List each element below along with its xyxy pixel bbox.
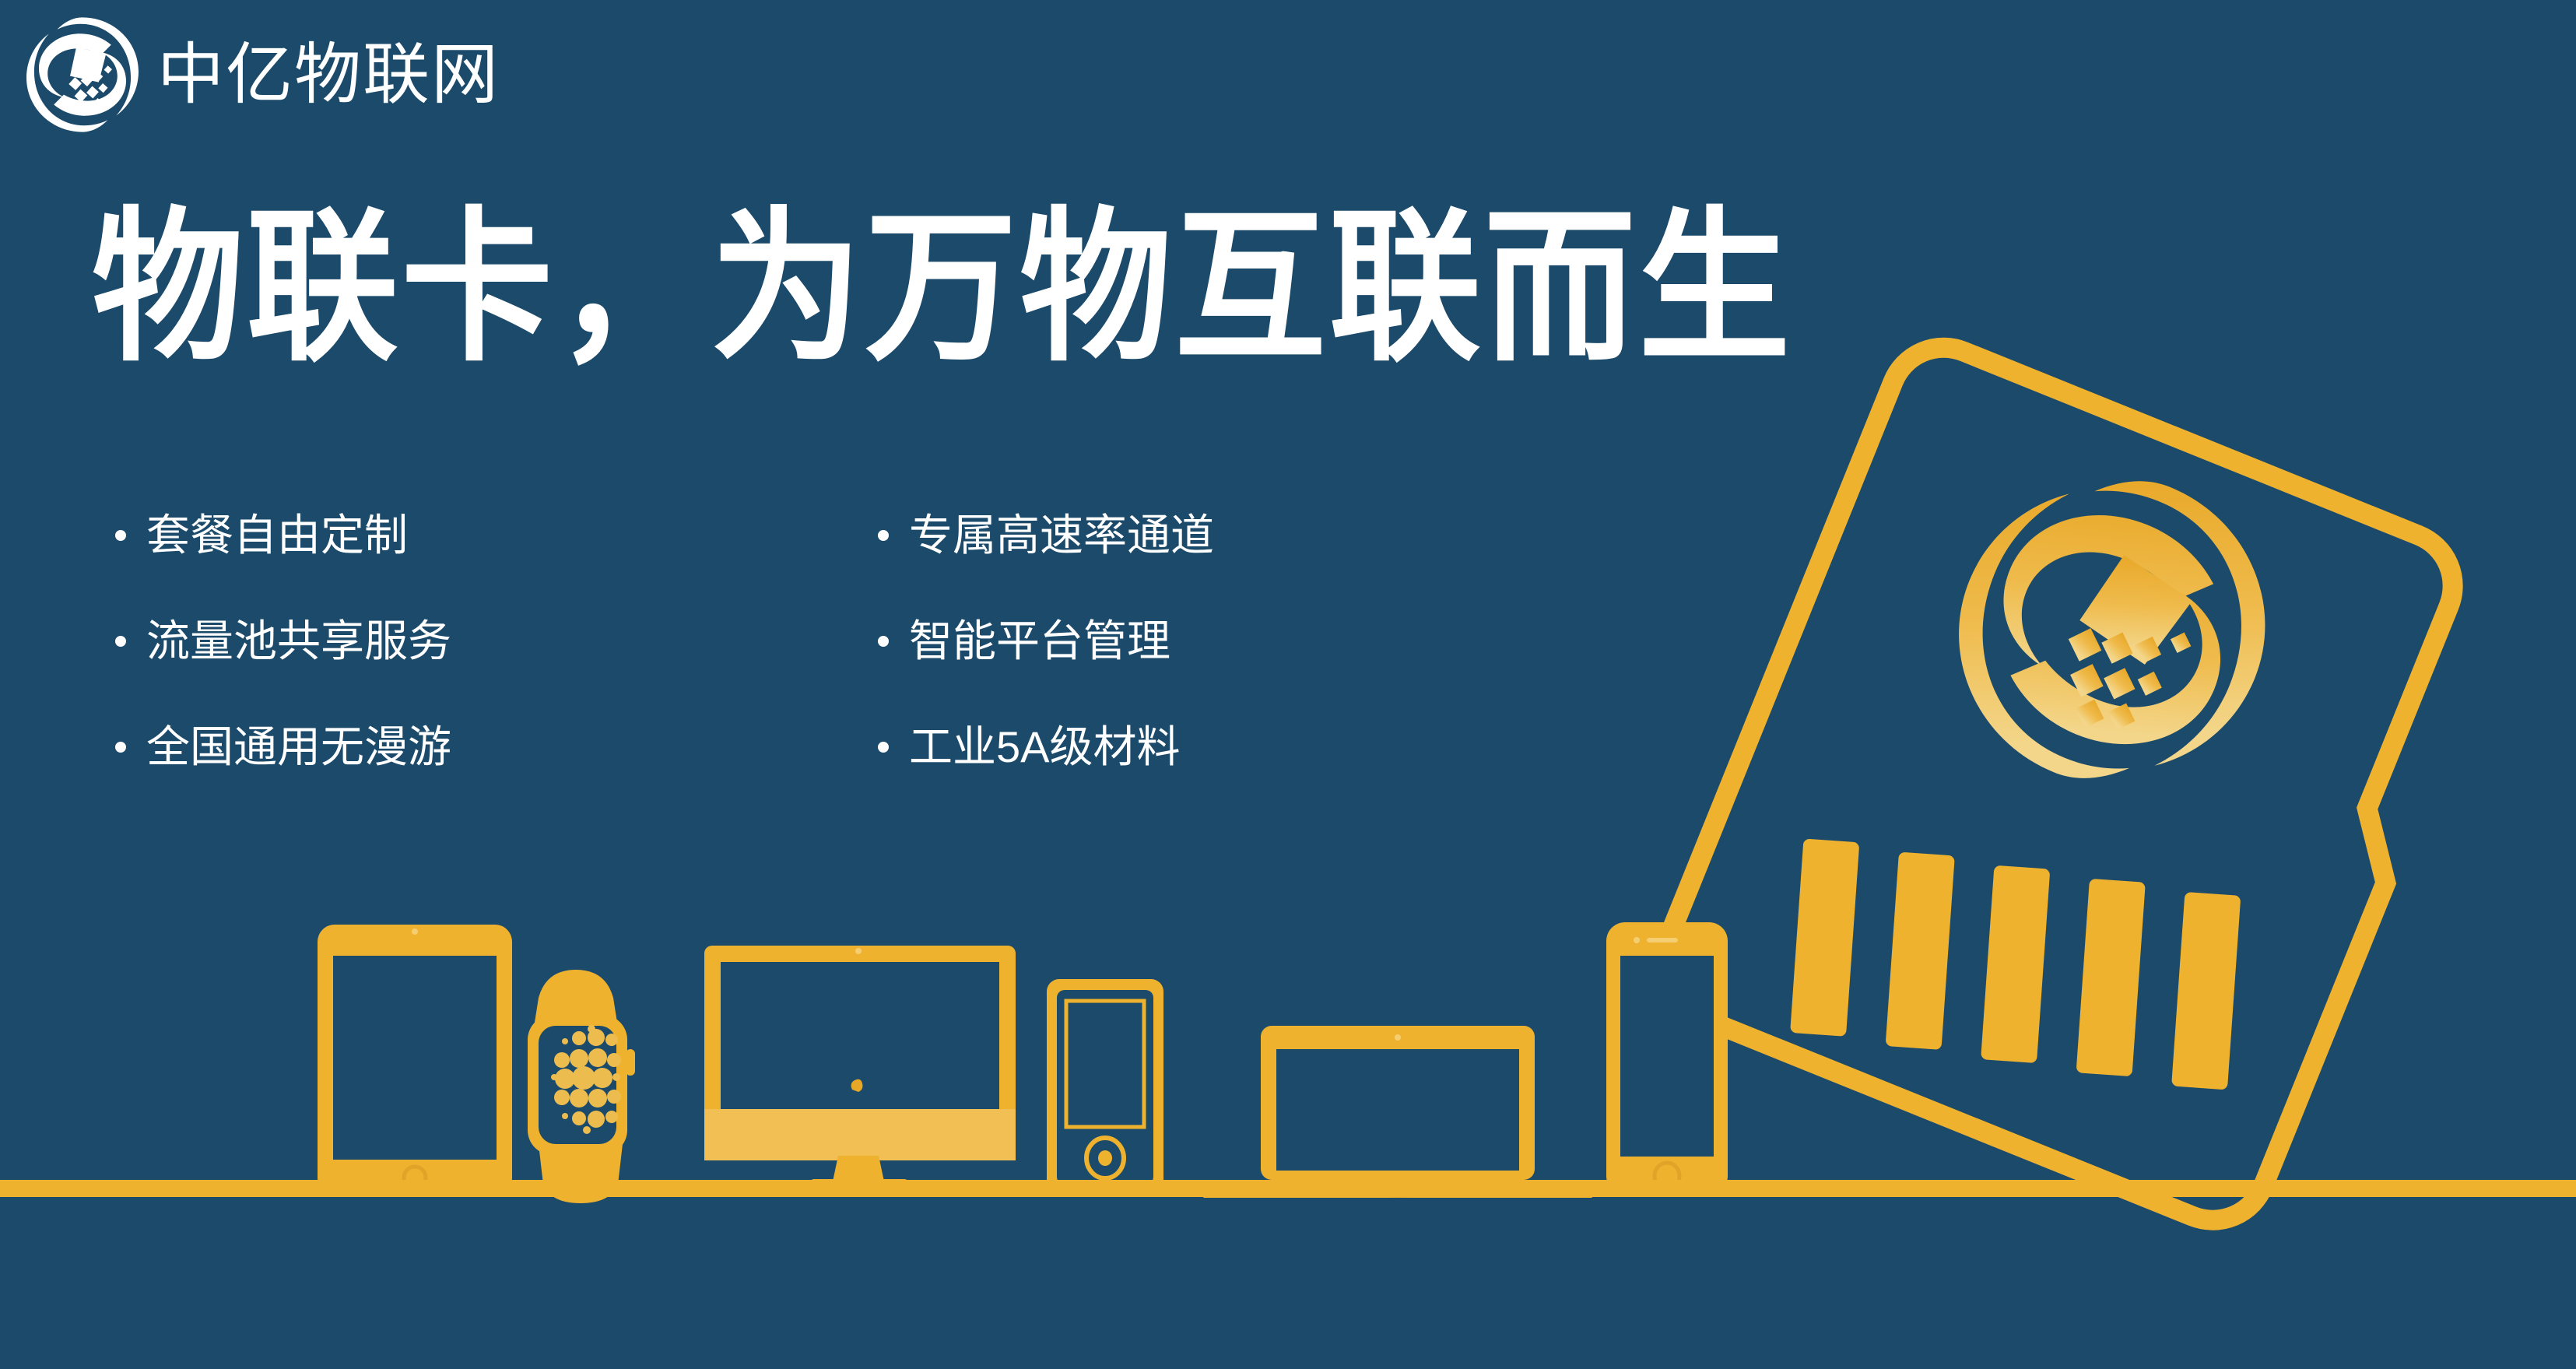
brand-name: 中亿物联网: [157, 41, 500, 108]
page-title: 物联卡，为万物互联而生: [92, 204, 1793, 372]
list-item-label: 套餐自由定制: [146, 514, 408, 557]
bullet-dot-icon: [878, 530, 889, 541]
list-item-label: 智能平台管理: [909, 620, 1170, 663]
list-item-label: 工业5A级材料: [909, 725, 1181, 769]
list-item-label: 流量池共享服务: [146, 620, 451, 663]
list-item: 工业5A级材料: [878, 694, 1214, 800]
feature-list-right: 专属高速率通道 智能平台管理 工业5A级材料: [878, 483, 1214, 800]
watch-app-grid-icon: [551, 1025, 621, 1134]
bullet-dot-icon: [878, 742, 889, 753]
bullet-dot-icon: [115, 742, 126, 753]
feature-list-left: 套餐自由定制 流量池共享服务 全国通用无漫游: [115, 483, 451, 800]
device-tablet: [318, 925, 512, 1195]
list-item-label: 专属高速率通道: [909, 514, 1214, 557]
sim-card: [1645, 332, 2511, 1237]
swirl-pixel-logo-icon: [20, 12, 145, 137]
device-smartwatch: [528, 970, 635, 1203]
list-item-label: 全国通用无漫游: [146, 725, 451, 769]
device-smartphone: [1606, 922, 1728, 1195]
ground-line: [0, 1180, 2576, 1197]
device-media-player: [1047, 979, 1163, 1195]
list-item: 全国通用无漫游: [115, 694, 451, 800]
bullet-dot-icon: [115, 636, 126, 647]
device-laptop: [1203, 1026, 1592, 1198]
list-item: 流量池共享服务: [115, 588, 451, 694]
bullet-dot-icon: [115, 530, 126, 541]
sim-emblem-swirl-icon: [1914, 430, 2309, 829]
bullet-dot-icon: [878, 636, 889, 647]
hero-banner: 中亿物联网 物联卡，为万物互联而生 套餐自由定制 流量池共享服务 全国通用无漫游…: [0, 0, 2576, 1369]
list-item: 套餐自由定制: [115, 483, 451, 588]
brand-logo[interactable]: 中亿物联网: [20, 11, 500, 139]
list-item: 专属高速率通道: [878, 483, 1214, 588]
sim-contact-pads: [1734, 736, 2297, 1193]
device-monitor: [704, 946, 1016, 1195]
list-item: 智能平台管理: [878, 588, 1214, 694]
sim-card-outline: [1645, 332, 2511, 1237]
